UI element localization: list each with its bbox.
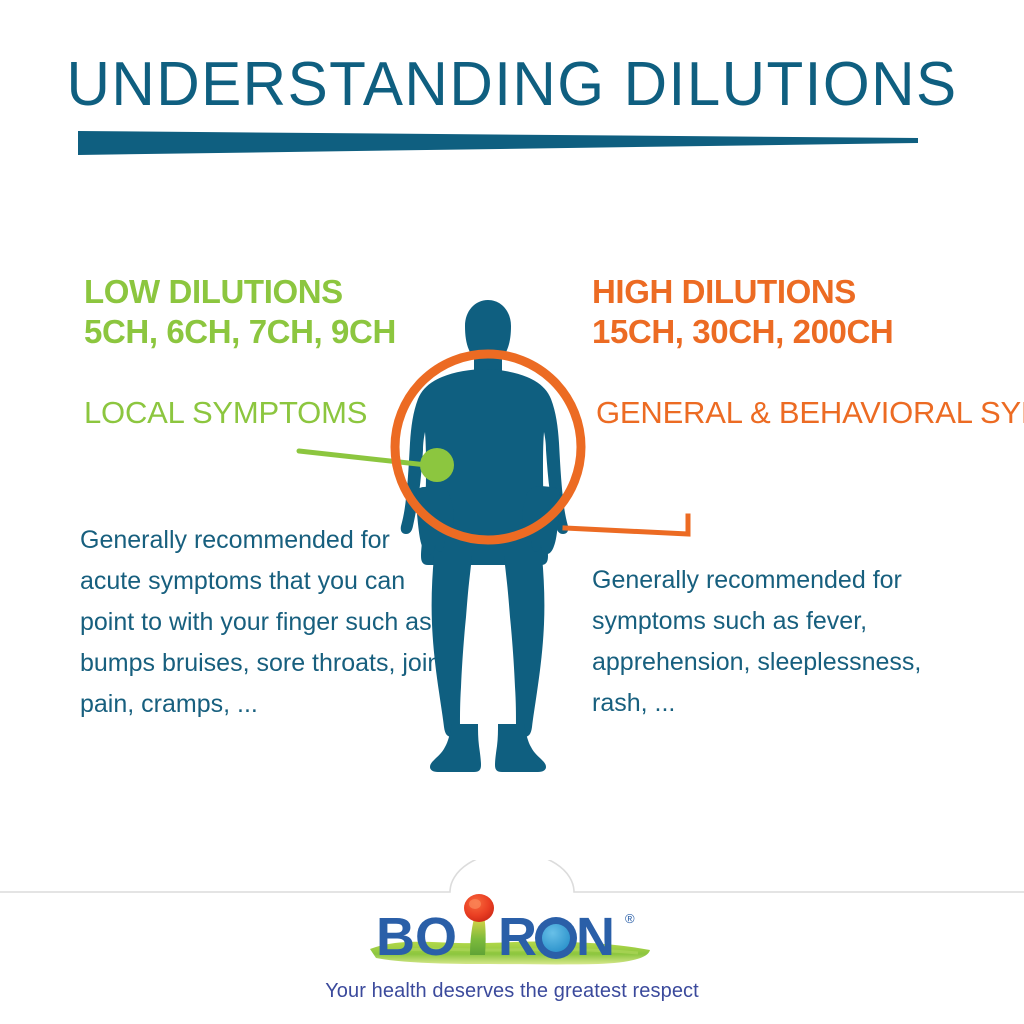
general-symptoms-leader-line — [565, 516, 688, 534]
boiron-letter-o1: O — [415, 907, 458, 967]
boiron-letter-b: B — [376, 907, 416, 967]
infographic-page: UNDERSTANDING DILUTIONS LOW DILUTIONS 5C… — [0, 0, 1024, 1024]
registered-trademark-symbol: ® — [625, 911, 635, 926]
boiron-letter-o2-flower-bead — [535, 917, 577, 959]
boiron-letter-r: R — [498, 907, 538, 967]
local-symptoms-marker-dot — [420, 448, 454, 482]
boiron-logo: B O R N ® — [362, 893, 662, 975]
brand-tagline: Your health deserves the greatest respec… — [0, 980, 1024, 1003]
boiron-letter-n: N — [576, 907, 616, 967]
